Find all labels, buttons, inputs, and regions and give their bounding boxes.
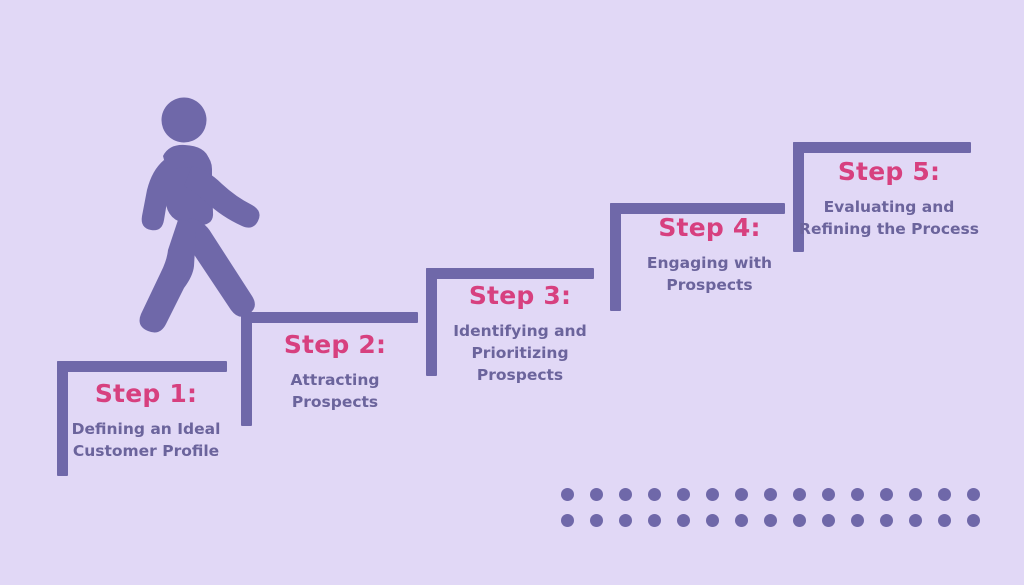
- walking-person-figure: [130, 90, 330, 350]
- grid-dot: [967, 488, 980, 501]
- step-4-description-line-1: Engaging with: [647, 254, 772, 272]
- grid-dot: [648, 488, 661, 501]
- grid-dot: [561, 514, 574, 527]
- step-3-description: Identifying and Prioritizing Prospects: [429, 320, 611, 386]
- grid-dot: [706, 488, 719, 501]
- step-5-description-line-2: Refining the Process: [799, 220, 979, 238]
- step-4-title: Step 4:: [622, 215, 797, 240]
- step-1-text-block: Step 1: Defining an Ideal Customer Profi…: [62, 381, 230, 462]
- step-1-description-line-1: Defining an Ideal: [72, 420, 221, 438]
- step-1-title: Step 1:: [62, 381, 230, 406]
- step-5-horizontal-bar: [793, 142, 971, 153]
- grid-dot: [706, 514, 719, 527]
- grid-dot: [764, 514, 777, 527]
- grid-dot: [590, 488, 603, 501]
- step-2-description: Attracting Prospects: [246, 369, 424, 413]
- grid-dot: [938, 488, 951, 501]
- grid-dot: [793, 514, 806, 527]
- step-4-vertical-bar: [610, 203, 621, 311]
- grid-dot: [880, 514, 893, 527]
- grid-dot: [764, 488, 777, 501]
- grid-dot: [938, 514, 951, 527]
- step-5-description-line-1: Evaluating and: [824, 198, 955, 216]
- grid-dot: [909, 514, 922, 527]
- decorative-dot-grid: [561, 488, 981, 528]
- infographic-canvas: Step 1: Defining an Ideal Customer Profi…: [0, 0, 1024, 585]
- grid-dot: [561, 488, 574, 501]
- step-3-horizontal-bar: [426, 268, 594, 279]
- step-1-description: Defining an Ideal Customer Profile: [62, 418, 230, 462]
- step-4-text-block: Step 4: Engaging with Prospects: [622, 215, 797, 296]
- step-5-description: Evaluating and Refining the Process: [798, 196, 980, 240]
- step-1-description-line-2: Customer Profile: [73, 442, 219, 460]
- grid-dot: [880, 488, 893, 501]
- grid-dot: [590, 514, 603, 527]
- step-2-horizontal-bar: [241, 312, 418, 323]
- grid-dot: [822, 514, 835, 527]
- grid-dot: [851, 488, 864, 501]
- step-3-description-line-2: Prioritizing Prospects: [471, 344, 568, 384]
- step-2-text-block: Step 2: Attracting Prospects: [246, 332, 424, 413]
- step-1-horizontal-bar: [57, 361, 227, 372]
- grid-dot: [793, 488, 806, 501]
- step-4-description-line-2: Prospects: [666, 276, 752, 294]
- grid-dot: [822, 488, 835, 501]
- grid-dot: [619, 514, 632, 527]
- grid-dot: [851, 514, 864, 527]
- grid-dot: [967, 514, 980, 527]
- step-4-description: Engaging with Prospects: [622, 252, 797, 296]
- grid-dot: [677, 488, 690, 501]
- step-2-description-line-1: Attracting Prospects: [291, 371, 380, 411]
- grid-dot: [735, 514, 748, 527]
- grid-dot: [909, 488, 922, 501]
- grid-dot: [619, 488, 632, 501]
- walking-person-icon: [130, 90, 330, 350]
- step-5-text-block: Step 5: Evaluating and Refining the Proc…: [798, 159, 980, 240]
- step-5-title: Step 5:: [798, 159, 980, 184]
- grid-dot: [648, 514, 661, 527]
- step-3-title: Step 3:: [429, 283, 611, 308]
- step-2-title: Step 2:: [246, 332, 424, 357]
- grid-dot: [677, 514, 690, 527]
- step-3-description-line-1: Identifying and: [453, 322, 586, 340]
- grid-dot: [735, 488, 748, 501]
- step-3-text-block: Step 3: Identifying and Prioritizing Pro…: [429, 283, 611, 386]
